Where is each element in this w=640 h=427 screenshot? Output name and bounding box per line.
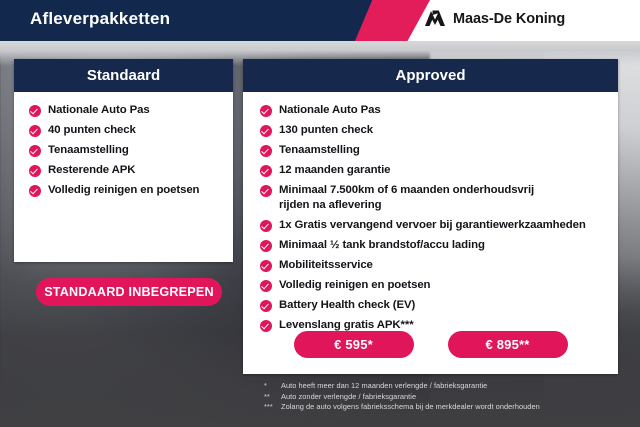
list-item: Mobiliteitsservice — [260, 258, 618, 273]
check-icon — [260, 105, 272, 117]
check-icon — [29, 125, 41, 137]
list-item: Tenaamstelling — [260, 143, 618, 158]
check-icon — [260, 220, 272, 232]
list-item: Minimaal 7.500km of 6 maanden onderhouds… — [260, 183, 618, 213]
footnote-1: * Auto heeft meer dan 12 maanden verleng… — [264, 381, 624, 392]
footnote-3: *** Zolang de auto volgens fabrieksschem… — [264, 402, 624, 413]
list-item: Resterende APK — [29, 163, 233, 178]
footnote-text: Auto heeft meer dan 12 maanden verlengde… — [281, 381, 487, 392]
list-item: Tenaamstelling — [29, 143, 233, 158]
check-icon — [29, 105, 41, 117]
footnote-2: ** Auto zonder verlengde / fabrieksgaran… — [264, 392, 624, 403]
list-item: Volledig reinigen en poetsen — [260, 278, 618, 293]
footnote-marker: ** — [264, 392, 281, 403]
check-icon — [260, 260, 272, 272]
list-item: 12 maanden garantie — [260, 163, 618, 178]
check-icon — [29, 145, 41, 157]
list-item: Volledig reinigen en poetsen — [29, 183, 233, 198]
check-icon — [260, 125, 272, 137]
standaard-inbegrepen-button[interactable]: STANDAARD INBEGREPEN — [36, 278, 222, 306]
price-button-595[interactable]: € 595* — [294, 331, 414, 358]
feature-list-standaard: Nationale Auto Pas 40 punten check Tenaa… — [29, 103, 233, 198]
footnote-marker: *** — [264, 402, 281, 413]
footnote-marker: * — [264, 381, 281, 392]
package-card-standaard: Standaard Nationale Auto Pas 40 punten c… — [14, 59, 233, 262]
check-icon — [260, 300, 272, 312]
price-button-group: € 595* € 895** — [243, 331, 618, 358]
card-title-standaard: Standaard — [14, 59, 233, 92]
footnotes: * Auto heeft meer dan 12 maanden verleng… — [264, 381, 624, 413]
list-item: Battery Health check (EV) — [260, 298, 618, 313]
check-icon — [29, 165, 41, 177]
check-icon — [260, 240, 272, 252]
footnote-text: Auto zonder verlengde / fabrieksgarantie — [281, 392, 416, 403]
brand-name: Maas-De Koning — [453, 11, 565, 27]
feature-list-approved: Nationale Auto Pas 130 punten check Tena… — [260, 103, 618, 333]
list-item: Minimaal ½ tank brandstof/accu lading — [260, 238, 618, 253]
list-item: 130 punten check — [260, 123, 618, 138]
promo-page: Afleverpakketten Maas-De Koning Standaar… — [0, 0, 640, 427]
card-body-standaard: Nationale Auto Pas 40 punten check Tenaa… — [14, 92, 233, 198]
footnote-text: Zolang de auto volgens fabrieksschema bi… — [281, 402, 540, 413]
maas-de-koning-m-logo-icon — [424, 10, 446, 27]
list-item: 40 punten check — [29, 123, 233, 138]
card-title-approved: Approved — [243, 59, 618, 92]
check-icon — [260, 280, 272, 292]
check-icon — [260, 185, 272, 197]
package-card-approved: Approved Nationale Auto Pas 130 punten c… — [243, 59, 618, 374]
check-icon — [260, 165, 272, 177]
brand-logo: Maas-De Koning — [424, 10, 565, 27]
feature-text-multiline: Minimaal 7.500km of 6 maanden onderhouds… — [279, 183, 534, 213]
price-button-895[interactable]: € 895** — [448, 331, 568, 358]
page-header: Afleverpakketten Maas-De Koning — [0, 0, 640, 41]
card-body-approved: Nationale Auto Pas 130 punten check Tena… — [243, 92, 618, 333]
check-icon — [260, 320, 272, 332]
page-title: Afleverpakketten — [30, 9, 170, 29]
check-icon — [260, 145, 272, 157]
check-icon — [29, 185, 41, 197]
list-item: Nationale Auto Pas — [260, 103, 618, 118]
list-item: Nationale Auto Pas — [29, 103, 233, 118]
list-item: 1x Gratis vervangend vervoer bij garanti… — [260, 218, 618, 233]
